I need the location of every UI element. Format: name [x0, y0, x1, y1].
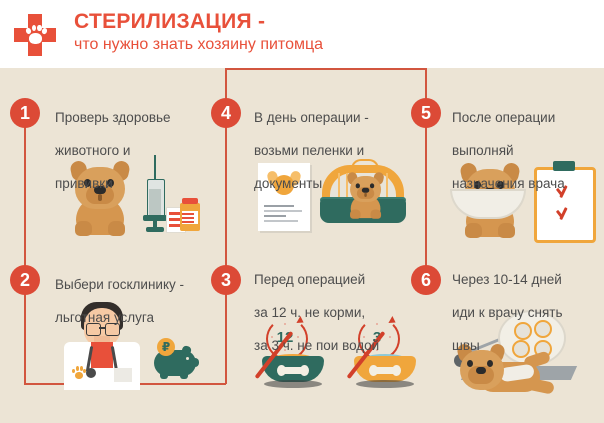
- step-3-line-1: Перед операцией: [254, 272, 419, 289]
- step-6-line-3: швы: [452, 338, 602, 355]
- step-text-5: После операции выполняй назначения врача: [452, 93, 602, 209]
- cross-paw-icon: [14, 14, 56, 56]
- page-title: СТЕРИЛИЗАЦИЯ -: [74, 10, 265, 34]
- connector-line-top: [225, 68, 426, 70]
- step-6-line-2: иди к врачу снять: [452, 305, 602, 322]
- step-badge-5[interactable]: 5: [411, 98, 441, 128]
- step-badge-2[interactable]: 2: [10, 265, 40, 295]
- step-5-line-2: выполняй: [452, 143, 602, 160]
- step-badge-4[interactable]: 4: [211, 98, 241, 128]
- step-1-line-3: прививки: [55, 176, 205, 193]
- step-4-line-3: документы: [254, 176, 419, 193]
- step-4-line-1: В день операции -: [254, 110, 419, 127]
- step-2-line-1: Выбери госклинику -: [55, 277, 210, 294]
- step-badge-1[interactable]: 1: [10, 98, 40, 128]
- step-2-line-2: льготная услуга: [55, 310, 210, 327]
- step-6-line-1: Через 10-14 дней: [452, 272, 602, 289]
- piggy-bank-icon: ₽: [150, 338, 200, 380]
- step-text-4: В день операции - возьми пеленки и докум…: [254, 93, 419, 209]
- step-3-line-3: за 3 ч. не пои водой: [254, 338, 419, 355]
- step-5-line-3: назначения врача: [452, 176, 602, 193]
- step-1-line-1: Проверь здоровье: [55, 110, 205, 127]
- connector-line-left: [24, 112, 26, 384]
- step-4-line-2: возьми пеленки и: [254, 143, 419, 160]
- step-1-line-2: животного и: [55, 143, 205, 160]
- step-badge-6[interactable]: 6: [411, 265, 441, 295]
- step-3-line-2: за 12 ч. не корми,: [254, 305, 419, 322]
- step-text-3: Перед операцией за 12 ч. не корми, за 3 …: [254, 255, 419, 371]
- infographic-page: СТЕРИЛИЗАЦИЯ - что нужно знать хозяину п…: [0, 0, 604, 423]
- step-badge-3[interactable]: 3: [211, 265, 241, 295]
- header: СТЕРИЛИЗАЦИЯ - что нужно знать хозяину п…: [0, 0, 604, 68]
- step-text-2: Выбери госклинику - льготная услуга: [55, 260, 210, 343]
- step-text-1: Проверь здоровье животного и прививки: [55, 93, 205, 209]
- page-subtitle: что нужно знать хозяину питомца: [74, 36, 323, 54]
- step-5-line-1: После операции: [452, 110, 602, 127]
- step-text-6: Через 10-14 дней иди к врачу снять швы: [452, 255, 602, 371]
